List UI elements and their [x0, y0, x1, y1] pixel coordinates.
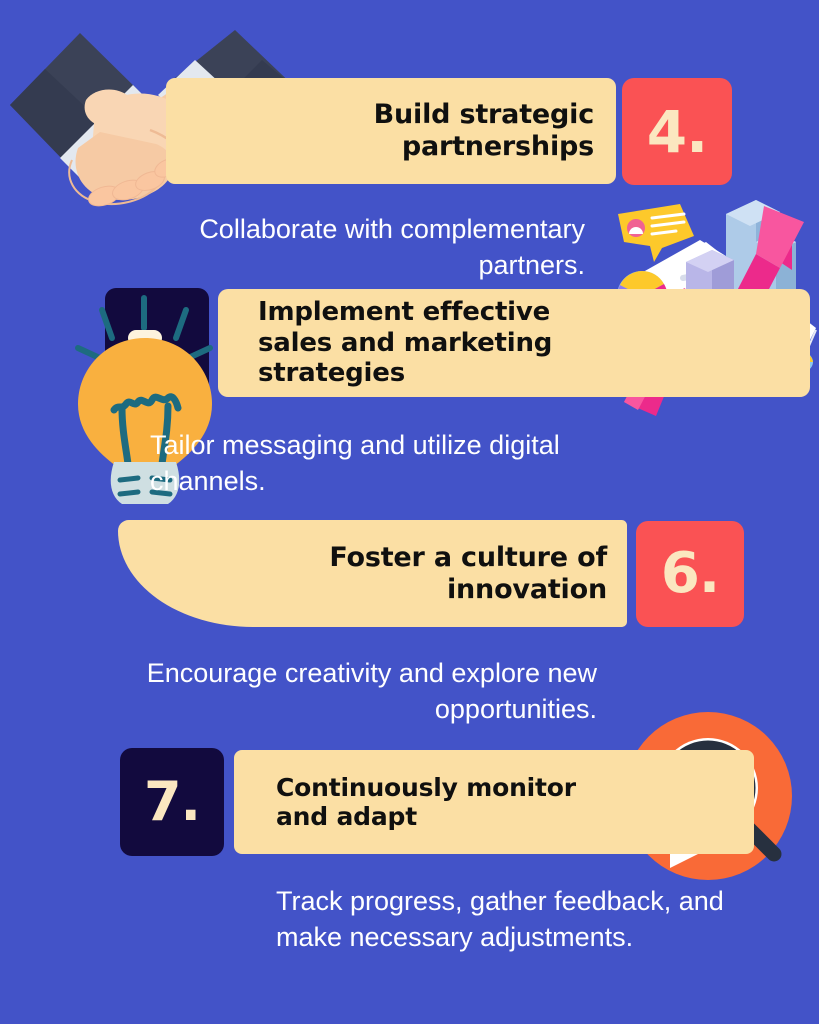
step-6-number-badge: 6.: [636, 521, 744, 627]
step-7-number: 7.: [144, 775, 200, 829]
step-5-title-bar: Implement effective sales and marketing …: [218, 289, 810, 397]
step-6-title: Foster a culture of innovation: [118, 542, 607, 605]
step-6-description: Encourage creativity and explore new opp…: [115, 656, 597, 728]
step-7-title: Continuously monitor and adapt: [276, 773, 754, 832]
infographic-canvas: Build strategic partnerships 4. Collabor…: [0, 0, 819, 1024]
step-5-description: Tailor messaging and utilize digital cha…: [150, 428, 642, 500]
step-4-title-bar: Build strategic partnerships: [166, 78, 616, 184]
step-5-title: Implement effective sales and marketing …: [258, 297, 810, 388]
step-6-number: 6.: [661, 546, 719, 602]
step-4-number: 4.: [647, 103, 707, 161]
step-4-description: Collaborate with complementary partners.: [120, 212, 585, 284]
step-6-title-bar: Foster a culture of innovation: [118, 520, 627, 627]
step-7-title-bar: Continuously monitor and adapt: [234, 750, 754, 854]
step-7-description: Track progress, gather feedback, and mak…: [276, 884, 736, 956]
step-4-number-badge: 4.: [622, 78, 732, 185]
step-7-number-badge: 7.: [120, 748, 224, 856]
step-4-title: Build strategic partnerships: [166, 99, 598, 162]
